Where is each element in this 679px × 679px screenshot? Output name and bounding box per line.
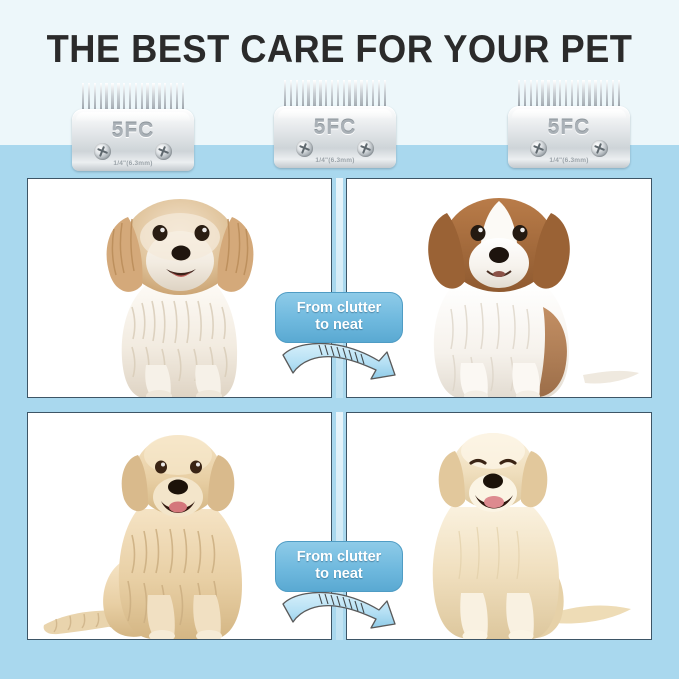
blade-size-label-center: 1/4"(6.3mm) xyxy=(274,157,396,164)
page-title: THE BEST CARE FOR YOUR PET xyxy=(24,28,655,72)
blade-screw-right-2 xyxy=(591,140,608,157)
transition-badge-bottom: From clutter to neat xyxy=(275,541,403,592)
blade-screw-left-1 xyxy=(94,143,111,160)
transition-badge-line2-top: to neat xyxy=(280,317,398,334)
blade-body-right: 5FC 1/4"(6.3mm) xyxy=(508,106,630,168)
blade-body-center: 5FC 1/4"(6.3mm) xyxy=(274,106,396,168)
curved-arrow-top xyxy=(275,341,403,393)
product-image-canvas: THE BEST CARE FOR YOUR PET xyxy=(0,0,679,679)
blade-model-label-right: 5FC xyxy=(508,116,630,140)
blade-screw-right-1 xyxy=(530,140,547,157)
blade-model-label-center: 5FC xyxy=(274,116,396,140)
transition-badge-line1-top: From clutter xyxy=(280,300,398,317)
curved-arrow-bottom xyxy=(275,590,403,642)
blade-size-label-left: 1/4"(6.3mm) xyxy=(72,160,194,167)
clipper-blade-center: 5FC 1/4"(6.3mm) xyxy=(274,80,396,168)
blade-body-left: 5FC 1/4"(6.3mm) xyxy=(72,109,194,171)
transition-callout-top: From clutter to neat xyxy=(275,292,403,393)
clipper-blade-left: 5FC 1/4"(6.3mm) xyxy=(72,83,194,171)
clipper-blade-right: 5FC 1/4"(6.3mm) xyxy=(508,80,630,168)
blade-screw-center-1 xyxy=(296,140,313,157)
blade-screw-left-2 xyxy=(155,143,172,160)
blade-model-label-left: 5FC xyxy=(72,119,194,143)
transition-badge-top: From clutter to neat xyxy=(275,292,403,343)
transition-badge-line2-bottom: to neat xyxy=(280,566,398,583)
transition-badge-line1-bottom: From clutter xyxy=(280,549,398,566)
blade-size-label-right: 1/4"(6.3mm) xyxy=(508,157,630,164)
horizontal-divider xyxy=(27,398,652,412)
blade-screw-center-2 xyxy=(357,140,374,157)
transition-callout-bottom: From clutter to neat xyxy=(275,541,403,642)
